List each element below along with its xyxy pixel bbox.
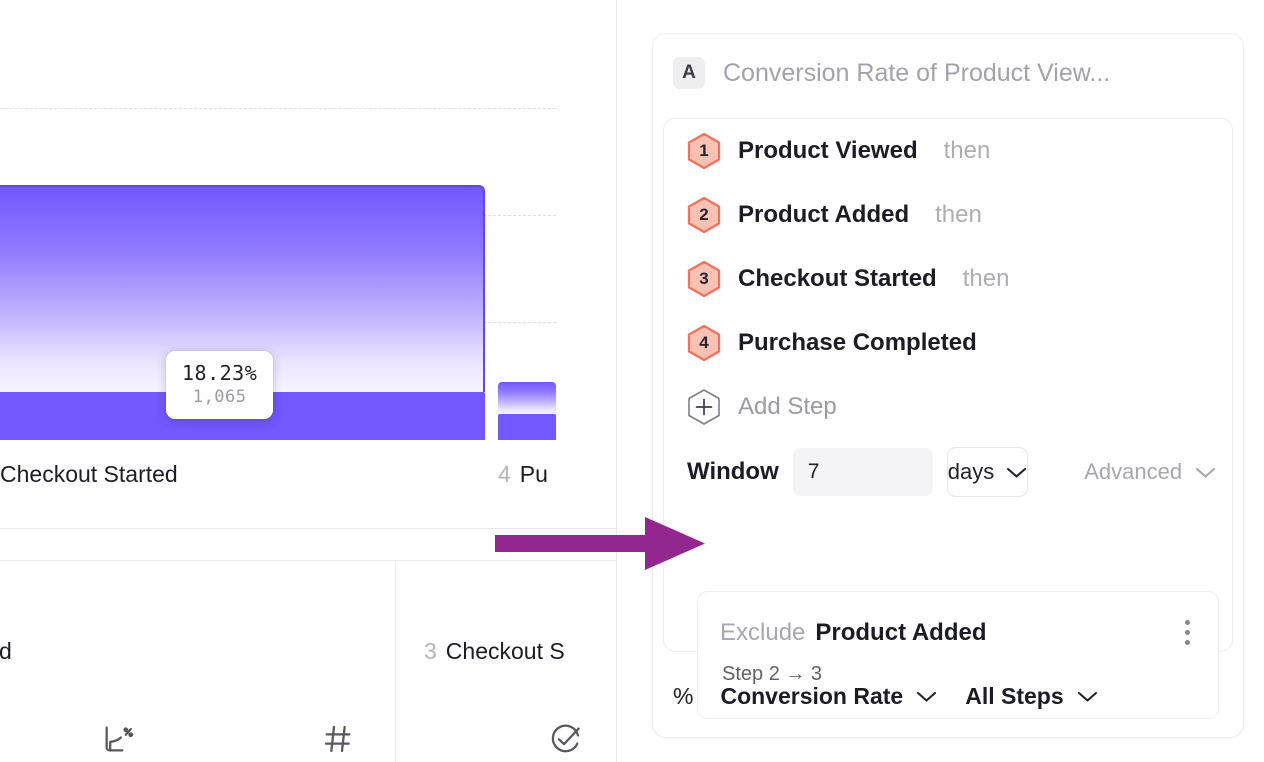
- step-summary-icons: [536, 716, 596, 762]
- step-summary-icons: [88, 716, 368, 762]
- exclude-event-name: Product Added: [815, 619, 986, 647]
- funnel-footer-controls: % Conversion Rate All Steps: [673, 675, 1126, 717]
- chevron-down-icon: [1077, 690, 1098, 703]
- step-connector: then: [944, 137, 991, 165]
- window-label: Window: [687, 458, 779, 486]
- exclude-card-header: Exclude Product Added: [698, 592, 1218, 649]
- step-summary-text: Checkout S: [446, 638, 565, 664]
- axis-label-checkout-started: Checkout Started: [0, 461, 178, 488]
- step-event-name: Product Viewed: [738, 137, 918, 165]
- step-summary-index: 3: [424, 638, 437, 664]
- step-number-hexagon-icon: 4: [687, 324, 721, 362]
- step-event-name: Product Added: [738, 201, 909, 229]
- step-summary-text: d: [0, 638, 12, 664]
- window-unit-select[interactable]: days: [947, 447, 1028, 497]
- window-value-input[interactable]: [793, 448, 933, 496]
- step-summary-title: d: [0, 638, 12, 665]
- advanced-toggle[interactable]: Advanced: [1084, 459, 1216, 485]
- funnel-step-1[interactable]: 1 Product Viewed then: [664, 119, 1232, 183]
- step-number: 2: [699, 205, 708, 225]
- metric-select[interactable]: % Conversion Rate: [673, 683, 937, 710]
- conversion-window-row: Window days Advanced: [664, 441, 1232, 503]
- add-step-label: Add Step: [738, 393, 837, 421]
- tooltip-percent: 18.23%: [182, 362, 257, 384]
- funnel-step-4[interactable]: 4 Purchase Completed: [664, 311, 1232, 375]
- hash-icon[interactable]: [308, 716, 368, 762]
- gridline: [0, 108, 556, 109]
- chart-plot-area: [0, 0, 556, 440]
- step-number: 1: [699, 141, 708, 161]
- tooltip-count: 1,065: [182, 388, 257, 407]
- axis-label-text: Pu: [520, 461, 548, 487]
- bar-tooltip: 18.23% 1,065: [166, 351, 273, 419]
- bar-fill-gradient: [498, 382, 556, 414]
- step-summary-card-2[interactable]: d: [0, 561, 396, 762]
- add-step-button[interactable]: Add Step: [664, 375, 1232, 439]
- step-event-name: Checkout Started: [738, 265, 937, 293]
- window-unit-label: days: [948, 459, 994, 485]
- step-number-hexagon-icon: 1: [687, 132, 721, 170]
- funnel-step-3[interactable]: 3 Checkout Started then: [664, 247, 1232, 311]
- step-summary-card-3[interactable]: 3Checkout S: [396, 561, 616, 762]
- exclude-overflow-menu-icon[interactable]: [1179, 616, 1196, 649]
- metric-label: Conversion Rate: [720, 683, 903, 710]
- check-circle-icon[interactable]: [536, 716, 596, 762]
- bar-fill-solid: [498, 414, 556, 440]
- chevron-down-icon: [916, 690, 937, 703]
- funnel-title[interactable]: Conversion Rate of Product View...: [723, 59, 1110, 88]
- funnel-steps-card: 1 Product Viewed then 2 Product Added th…: [663, 118, 1233, 652]
- series-letter-badge[interactable]: A: [673, 57, 705, 89]
- funnel-config-panel: A Conversion Rate of Product View... 1 P…: [652, 33, 1244, 738]
- plus-hexagon-icon: [687, 388, 721, 426]
- scope-label: All Steps: [965, 683, 1063, 710]
- bar-purchase-completed[interactable]: [498, 382, 556, 440]
- step-number-hexagon-icon: 3: [687, 260, 721, 298]
- funnel-step-2[interactable]: 2 Product Added then: [664, 183, 1232, 247]
- chevron-down-icon: [1006, 466, 1027, 479]
- vertical-divider: [616, 0, 617, 762]
- scope-select[interactable]: All Steps: [965, 683, 1097, 710]
- funnel-panel-header: A Conversion Rate of Product View...: [653, 34, 1243, 112]
- step-summary-title: 3Checkout S: [424, 638, 565, 665]
- chart-divider: [0, 528, 616, 529]
- percent-icon: %: [673, 683, 693, 710]
- advanced-label: Advanced: [1084, 459, 1182, 485]
- step-connector: then: [963, 265, 1010, 293]
- step-number: 3: [699, 269, 708, 289]
- step-number: 4: [699, 333, 708, 353]
- step-event-name: Purchase Completed: [738, 329, 977, 357]
- exclude-prefix-label: Exclude: [720, 619, 805, 647]
- funnel-chart-icon[interactable]: [88, 716, 148, 762]
- axis-label-text: Checkout Started: [0, 461, 178, 487]
- chevron-down-icon: [1195, 466, 1216, 479]
- step-number-hexagon-icon: 2: [687, 196, 721, 234]
- axis-label-index: 4: [498, 461, 511, 487]
- step-connector: then: [935, 201, 982, 229]
- axis-label-purchase-completed: 4Pu: [498, 461, 548, 488]
- funnel-chart-panel: 18.23% 1,065 Checkout Started 4Pu d: [0, 0, 616, 762]
